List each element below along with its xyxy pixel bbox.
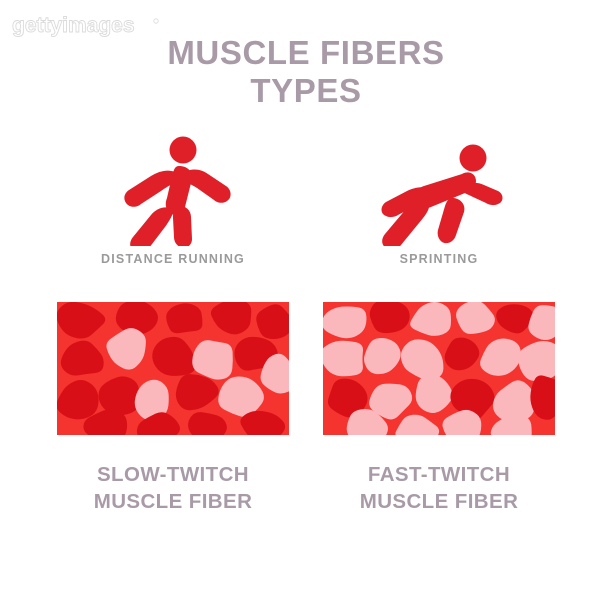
runner-head — [170, 137, 197, 164]
page-title-line-1: MUSCLE FIBERS — [0, 34, 612, 72]
slow-twitch-caption-line-2: MUSCLE FIBER — [94, 488, 253, 515]
slow-twitch-column: DISTANCE RUNNING SLOW-TWITCH MUSCLE FIBE… — [40, 132, 306, 515]
distance-runner-icon — [113, 132, 233, 250]
fiber-comparison-columns: DISTANCE RUNNING SLOW-TWITCH MUSCLE FIBE… — [0, 132, 612, 515]
fast-twitch-fiber-cross-section — [323, 302, 555, 435]
fiber-cell-dark — [166, 303, 202, 333]
slow-twitch-fiber-cross-section — [57, 302, 289, 435]
slow-twitch-fiber-svg — [57, 302, 289, 435]
slow-twitch-caption: SLOW-TWITCH MUSCLE FIBER — [94, 461, 253, 515]
sprinter-front-arm — [461, 183, 503, 205]
fast-twitch-fiber-svg — [323, 302, 555, 435]
fast-twitch-caption-line-2: MUSCLE FIBER — [360, 488, 519, 515]
fiber-cell-pale — [323, 341, 363, 377]
page-title: MUSCLE FIBERS TYPES — [0, 34, 612, 110]
runner-front-leg — [173, 206, 192, 246]
fast-twitch-caption: FAST-TWITCH MUSCLE FIBER — [360, 461, 519, 515]
fast-twitch-caption-line-1: FAST-TWITCH — [360, 461, 519, 488]
page-title-line-2: TYPES — [0, 72, 612, 110]
activity-label-sprinting: SPRINTING — [400, 252, 479, 266]
sprinter-head — [460, 145, 487, 172]
slow-twitch-caption-line-1: SLOW-TWITCH — [94, 461, 253, 488]
sprinter-front-leg — [438, 198, 465, 243]
activity-label-distance-running: DISTANCE RUNNING — [101, 252, 245, 266]
fast-twitch-column: SPRINTING FAST-TWITCH MUSCLE FIBER — [306, 132, 572, 515]
sprinter-icon — [374, 132, 504, 250]
registered-mark-icon — [154, 19, 158, 23]
runner-back-leg — [130, 207, 173, 246]
